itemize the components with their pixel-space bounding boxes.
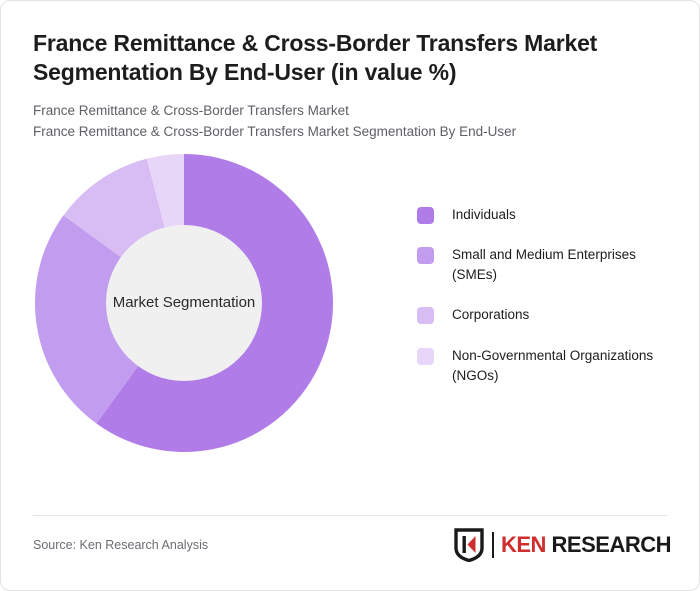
- legend-swatch-icon: [417, 348, 434, 365]
- ken-research-shield-icon: [454, 528, 484, 562]
- brand-wordmark-accent: KEN: [501, 532, 546, 557]
- legend-item-corporations[interactable]: Corporations: [417, 305, 673, 325]
- chart-card: France Remittance & Cross-Border Transfe…: [0, 0, 700, 591]
- chart-legend: Individuals Small and Medium Enterprises…: [417, 205, 673, 385]
- donut-hole: [106, 225, 262, 381]
- page-title: France Remittance & Cross-Border Transfe…: [33, 29, 658, 87]
- legend-item-smes[interactable]: Small and Medium Enterprises (SMEs): [417, 245, 673, 284]
- chart-body: Market Segmentation Individuals Small an…: [1, 143, 699, 473]
- legend-item-label: Non-Governmental Organizations (NGOs): [452, 346, 667, 385]
- subtitle-secondary: France Remittance & Cross-Border Transfe…: [33, 122, 667, 143]
- legend-item-label: Individuals: [452, 205, 516, 225]
- brand-wordmark-rest: RESEARCH: [546, 532, 671, 557]
- donut-chart: Market Segmentation: [33, 152, 335, 454]
- legend-swatch-icon: [417, 247, 434, 264]
- brand-logo: KEN RESEARCH: [454, 528, 671, 562]
- legend-item-individuals[interactable]: Individuals: [417, 205, 673, 225]
- donut-svg: [33, 152, 335, 454]
- chart-footer: Source: Ken Research Analysis KEN RESEAR…: [33, 528, 671, 562]
- subtitle-group: France Remittance & Cross-Border Transfe…: [33, 101, 667, 143]
- legend-item-ngos[interactable]: Non-Governmental Organizations (NGOs): [417, 346, 673, 385]
- source-note: Source: Ken Research Analysis: [33, 538, 208, 552]
- subtitle-primary: France Remittance & Cross-Border Transfe…: [33, 101, 667, 122]
- legend-swatch-icon: [417, 207, 434, 224]
- legend-item-label: Corporations: [452, 305, 529, 325]
- legend-item-label: Small and Medium Enterprises (SMEs): [452, 245, 667, 284]
- footer-divider: [33, 515, 667, 516]
- legend-swatch-icon: [417, 307, 434, 324]
- chart-header: France Remittance & Cross-Border Transfe…: [1, 1, 699, 143]
- brand-separator: [492, 532, 494, 558]
- brand-wordmark: KEN RESEARCH: [501, 532, 671, 558]
